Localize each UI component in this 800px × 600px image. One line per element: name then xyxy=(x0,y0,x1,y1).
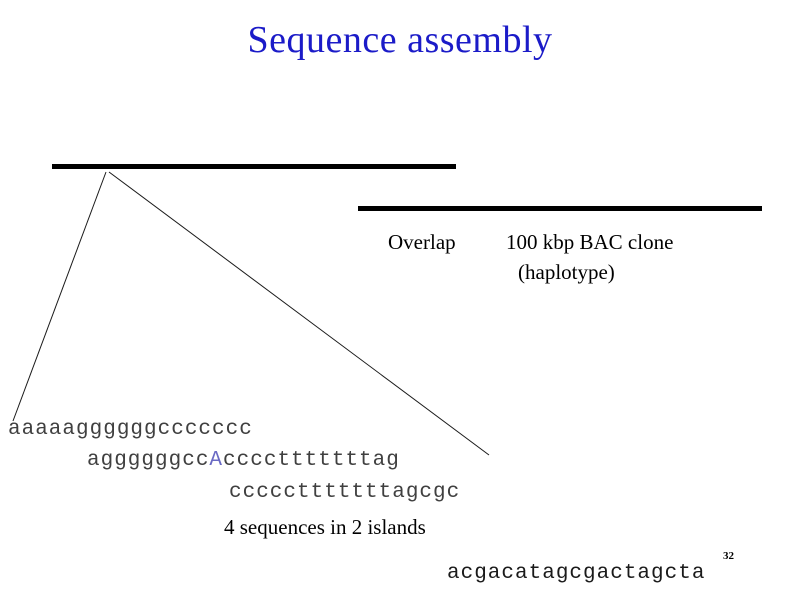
page-number: 32 xyxy=(723,550,734,562)
sequence-read-2-tail: ag xyxy=(373,449,400,472)
bac-clone-label: 100 kbp BAC clone xyxy=(506,230,673,255)
contig-bar-top xyxy=(52,164,456,169)
page-title: Sequence assembly xyxy=(0,18,800,62)
haplotype-label: (haplotype) xyxy=(518,260,615,285)
leader-line-left xyxy=(13,172,106,421)
sequence-read-3: ccccctttttttagcgc xyxy=(229,481,460,504)
sequence-read-2-suffix: ccccttttttt xyxy=(223,449,373,472)
islands-caption: 4 sequences in 2 islands xyxy=(224,515,426,540)
contig-bar-bottom xyxy=(358,206,762,211)
overlap-label: Overlap xyxy=(388,230,456,255)
zoom-leader-lines xyxy=(0,0,800,600)
sequence-read-2: aggggggccAcccctttttttag xyxy=(87,449,400,472)
leader-line-right xyxy=(109,172,489,455)
snp-base-a: A xyxy=(209,449,223,472)
sequence-read-4: acgacatagcgactagcta xyxy=(447,562,705,585)
slide-canvas: Sequence assembly Overlap 100 kbp BAC cl… xyxy=(0,0,800,600)
sequence-read-1: aaaaaggggggccccccc xyxy=(8,418,253,441)
sequence-read-2-prefix: aggggggcc xyxy=(87,449,209,472)
